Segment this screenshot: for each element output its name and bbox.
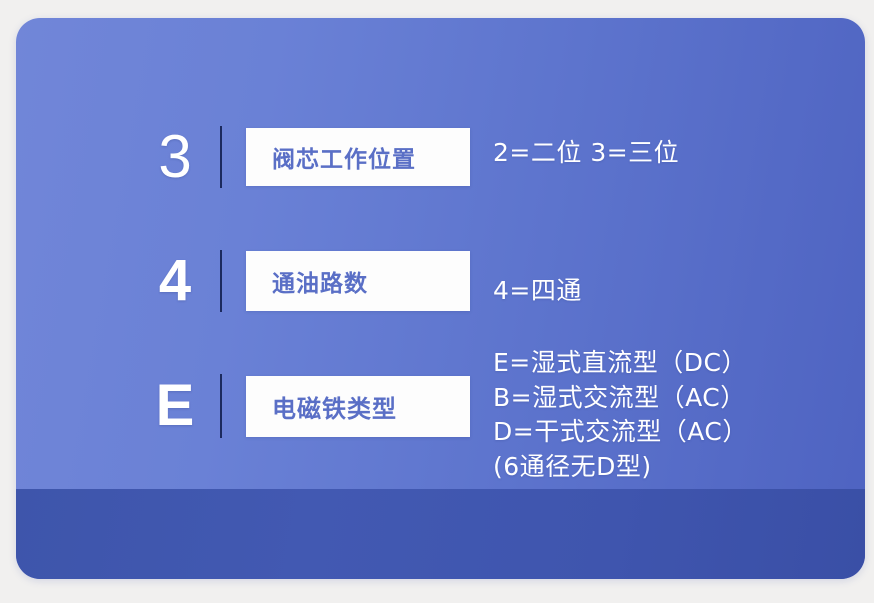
label-box-solenoid-type: 电磁铁类型 xyxy=(246,376,470,437)
spec-card: 3 阀芯工作位置 4 通油路数 E 电磁铁类型 2=二位 3=三位 4=四通 E… xyxy=(16,18,865,579)
label-text-oil-paths: 通油路数 xyxy=(246,264,368,298)
spec-row-oil-paths: 4 通油路数 xyxy=(146,250,470,312)
spec-row-valve-position: 3 阀芯工作位置 xyxy=(146,126,470,188)
options-oil-paths: 4=四通 xyxy=(493,274,582,309)
spec-row-solenoid-type: E 电磁铁类型 xyxy=(146,374,470,438)
row-divider-3 xyxy=(220,374,222,438)
code-character-4: 4 xyxy=(146,252,204,310)
option-line: (6通径无D型) xyxy=(493,450,748,485)
label-text-valve-position: 阀芯工作位置 xyxy=(246,140,416,174)
code-character-e: E xyxy=(146,377,204,435)
label-box-valve-position: 阀芯工作位置 xyxy=(246,128,470,186)
option-line: E=湿式直流型（DC） xyxy=(493,346,748,381)
option-line: 4=四通 xyxy=(493,276,582,305)
card-bottom-band xyxy=(16,489,865,579)
options-solenoid-type: E=湿式直流型（DC） B=湿式交流型（AC） D=干式交流型（AC） (6通径… xyxy=(493,346,748,484)
option-line: 2=二位 xyxy=(493,138,582,167)
label-box-oil-paths: 通油路数 xyxy=(246,251,470,311)
row-divider-2 xyxy=(220,250,222,312)
option-line: B=湿式交流型（AC） xyxy=(493,381,748,416)
label-text-solenoid-type: 电磁铁类型 xyxy=(246,389,397,424)
option-line: D=干式交流型（AC） xyxy=(493,415,748,450)
options-valve-position: 2=二位 3=三位 xyxy=(493,136,679,171)
option-line: 3=三位 xyxy=(590,138,679,167)
row-divider-1 xyxy=(220,126,222,188)
code-character-3: 3 xyxy=(146,127,204,187)
